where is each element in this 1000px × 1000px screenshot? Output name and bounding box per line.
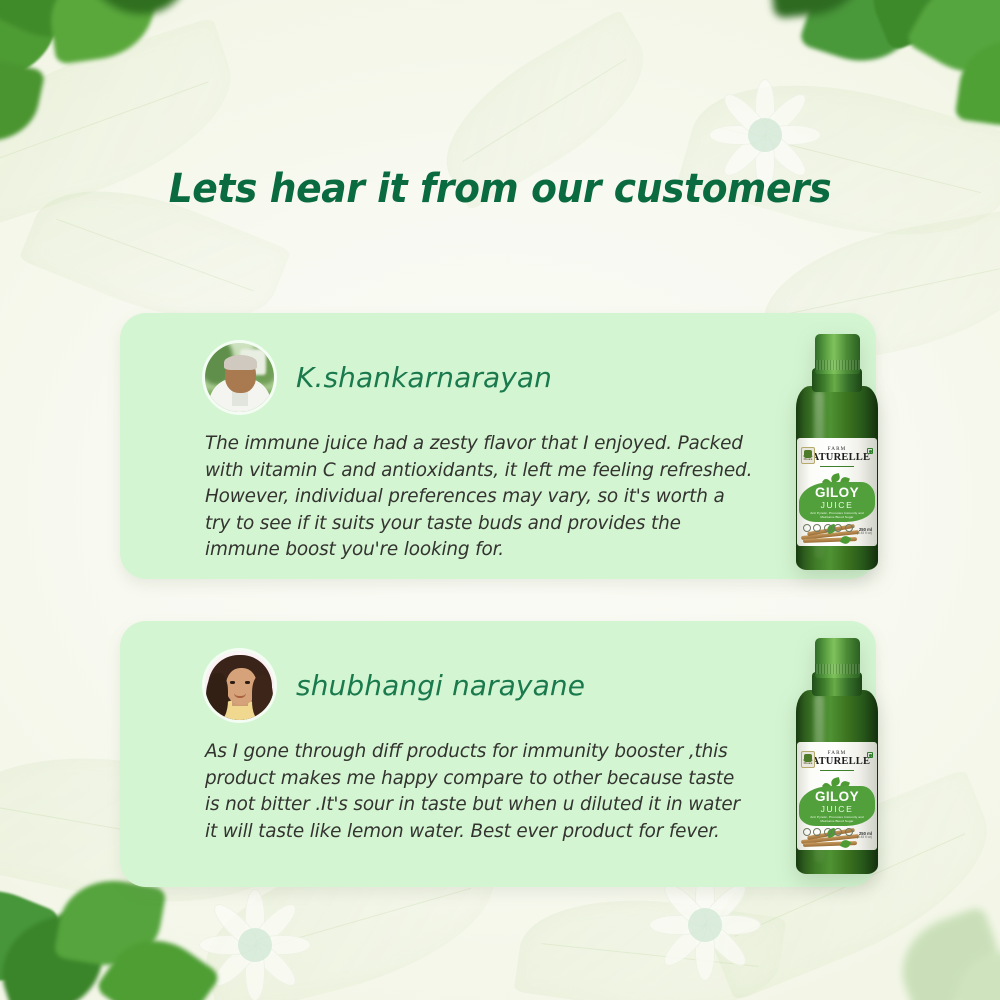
bottle-label: Bedia's Choice FARM NATURELLE GILOY JUIC… [797, 742, 877, 850]
avatar-image-man [205, 343, 274, 412]
product-name-text: GILOY [797, 790, 877, 804]
product-tagline-text: Anti Pyretic, Promotes Immunity and Main… [797, 512, 877, 520]
product-type-text: JUICE [797, 805, 877, 814]
bottle-cap [815, 334, 860, 374]
product-tagline-text: Anti Pyretic, Promotes Immunity and Main… [797, 816, 877, 824]
review-text: The immune juice had a zesty flavor that… [205, 431, 753, 564]
testimonial-card: shubhangi narayane As I gone through dif… [120, 621, 876, 887]
product-bottle-image: Bedia's Choice FARM NATURELLE GILOY JUIC… [782, 334, 892, 570]
avatar [205, 343, 274, 412]
volume-text: 250 ml (8.45 fl oz) [857, 831, 872, 840]
choice-badge-icon: Bedia's Choice [801, 751, 815, 768]
testimonial-person: K.shankarnarayan [205, 341, 876, 413]
page-title: Lets hear it from our customers [30, 166, 970, 212]
testimonial-card: K.shankarnarayan The immune juice had a … [120, 313, 876, 579]
testimonial-person: shubhangi narayane [205, 649, 876, 721]
volume-text: 250 ml (8.45 fl oz) [857, 527, 872, 536]
product-type-text: JUICE [797, 501, 877, 510]
reviewer-name: shubhangi narayane [296, 669, 585, 702]
bottle-cap [815, 638, 860, 678]
review-text: As I gone through diff products for immu… [205, 739, 750, 845]
veg-mark-icon [867, 752, 873, 758]
bottle-label: Bedia's Choice FARM NATURELLE GILOY JUIC… [797, 438, 877, 546]
veg-mark-icon [867, 448, 873, 454]
choice-badge-icon: Bedia's Choice [801, 447, 815, 464]
avatar [205, 651, 274, 720]
avatar-image-woman [205, 651, 274, 720]
product-bottle-image: Bedia's Choice FARM NATURELLE GILOY JUIC… [782, 638, 892, 874]
certification-icons [803, 828, 853, 836]
certification-icons [803, 524, 853, 532]
product-name-text: GILOY [797, 486, 877, 500]
reviewer-name: K.shankarnarayan [296, 361, 552, 394]
